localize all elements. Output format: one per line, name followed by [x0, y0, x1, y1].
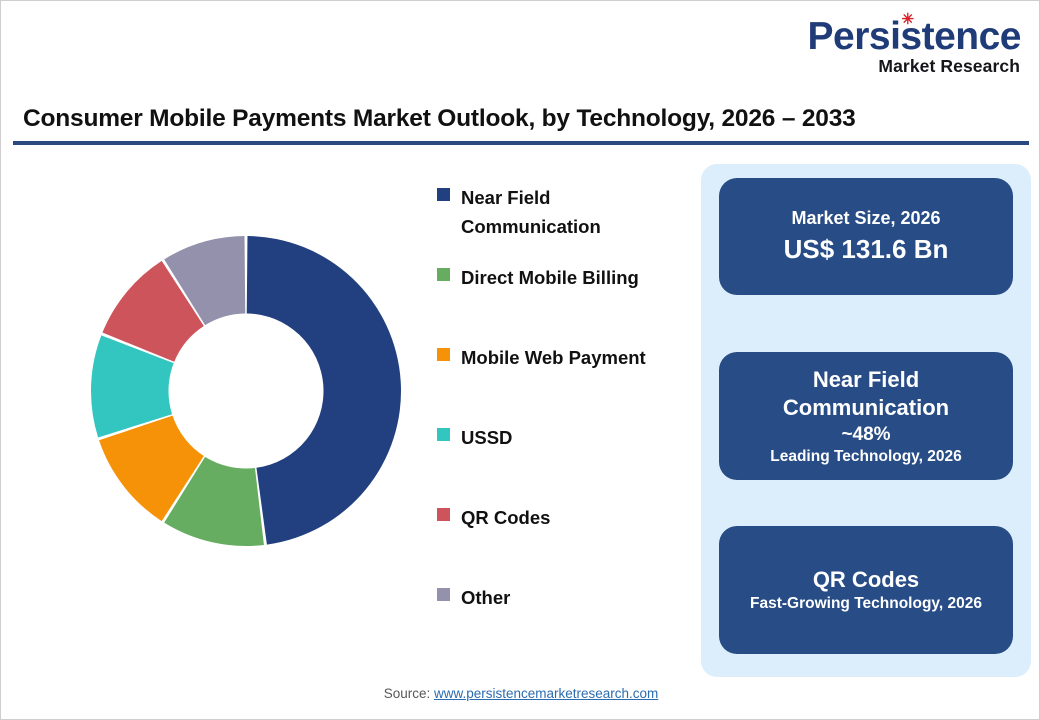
donut-chart-svg: Near Field Communication: 48%Direct Mobi… — [61, 206, 431, 576]
legend-item-mobile-web-payment[interactable]: Mobile Web Payment — [437, 343, 646, 372]
legend-swatch-icon — [437, 268, 450, 281]
legend-item-label: Direct Mobile Billing — [461, 263, 639, 292]
legend-item-near-field-communication[interactable]: Near Field Communication — [437, 183, 686, 241]
logo-tagline: Market Research — [791, 58, 1020, 76]
legend-item-ussd[interactable]: USSD — [437, 423, 512, 452]
donut-slice[interactable]: Near Field Communication: 48% — [247, 236, 401, 545]
legend-item-direct-mobile-billing[interactable]: Direct Mobile Billing — [437, 263, 639, 292]
company-logo: Persistence ✳ Market Research — [791, 17, 1021, 76]
legend-item-label: Mobile Web Payment — [461, 343, 646, 372]
legend-swatch-icon — [437, 188, 450, 201]
page-title: Consumer Mobile Payments Market Outlook,… — [23, 105, 1013, 133]
legend-item-other[interactable]: Other — [437, 583, 510, 612]
logo-wordmark-text: Persistence — [808, 15, 1021, 58]
stat-card-leading-technology: Near Field Communication ~48% Leading Te… — [719, 352, 1013, 480]
fast-growing-technology-name: QR Codes — [813, 566, 919, 595]
leading-technology-share: ~48% — [841, 423, 890, 447]
stat-card-market-size: Market Size, 2026 US$ 131.6 Bn — [719, 178, 1013, 295]
legend-swatch-icon — [437, 348, 450, 361]
donut-slice-group: Near Field Communication: 48%Direct Mobi… — [91, 236, 401, 546]
donut-chart: Near Field Communication: 48%Direct Mobi… — [61, 206, 431, 576]
infographic-canvas: Persistence ✳ Market Research Consumer M… — [0, 0, 1040, 720]
leading-technology-note: Leading Technology, 2026 — [770, 447, 962, 467]
leading-technology-name-line2: Communication — [783, 394, 949, 423]
stats-panel: Market Size, 2026 US$ 131.6 Bn Near Fiel… — [701, 164, 1031, 677]
logo-wordmark: Persistence ✳ — [808, 17, 1021, 56]
legend-item-label: Near Field Communication — [461, 183, 686, 241]
title-underline-rule — [13, 141, 1029, 145]
market-size-value: US$ 131.6 Bn — [784, 233, 949, 266]
legend-swatch-icon — [437, 508, 450, 521]
chart-legend: Near Field Communication Direct Mobile B… — [437, 183, 702, 613]
legend-item-label: QR Codes — [461, 503, 550, 532]
legend-item-label: Other — [461, 583, 510, 612]
legend-swatch-icon — [437, 588, 450, 601]
source-link[interactable]: www.persistencemarketresearch.com — [434, 686, 658, 701]
legend-item-qr-codes[interactable]: QR Codes — [437, 503, 550, 532]
source-footer: Source: www.persistencemarketresearch.co… — [1, 686, 1040, 701]
fast-growing-technology-note: Fast-Growing Technology, 2026 — [750, 594, 982, 614]
stat-card-fast-growing-technology: QR Codes Fast-Growing Technology, 2026 — [719, 526, 1013, 654]
market-size-caption: Market Size, 2026 — [791, 207, 940, 230]
legend-swatch-icon — [437, 428, 450, 441]
legend-item-label: USSD — [461, 423, 512, 452]
logo-star-icon: ✳ — [902, 14, 913, 25]
source-prefix-label: Source: — [384, 686, 434, 701]
leading-technology-name-line1: Near Field — [813, 366, 919, 395]
